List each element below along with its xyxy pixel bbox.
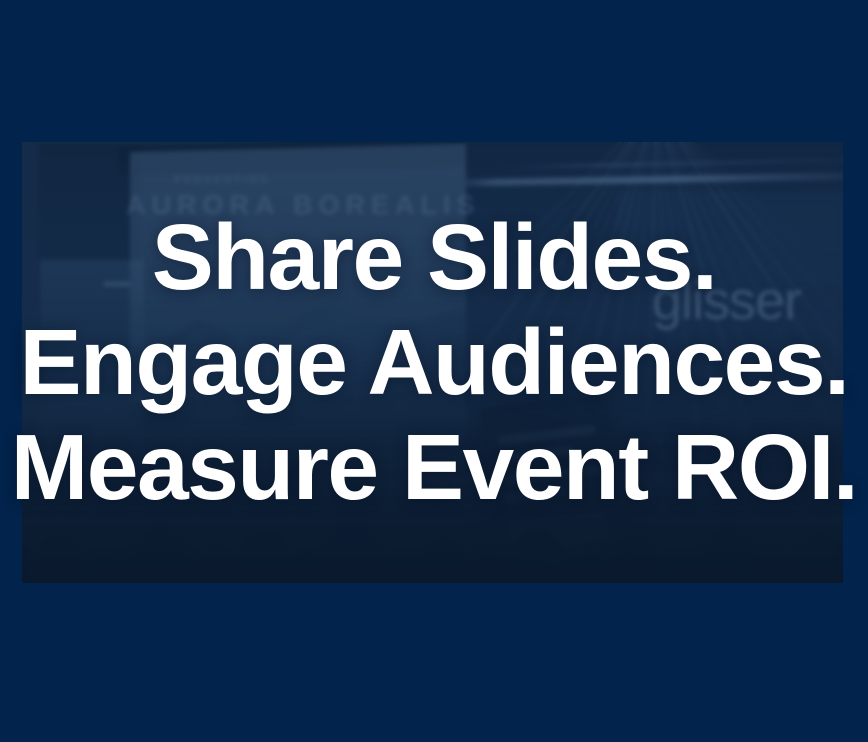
headline-line-1: Share Slides. — [0, 205, 868, 310]
headline-line-3: Measure Event ROI. — [0, 415, 868, 520]
headline-line-2: Engage Audiences. — [0, 310, 868, 415]
hero-headline: Share Slides. Engage Audiences. Measure … — [0, 205, 868, 520]
hero-banner-stage: PRESENTING AURORA BOREALIS glisser Share… — [0, 0, 868, 742]
